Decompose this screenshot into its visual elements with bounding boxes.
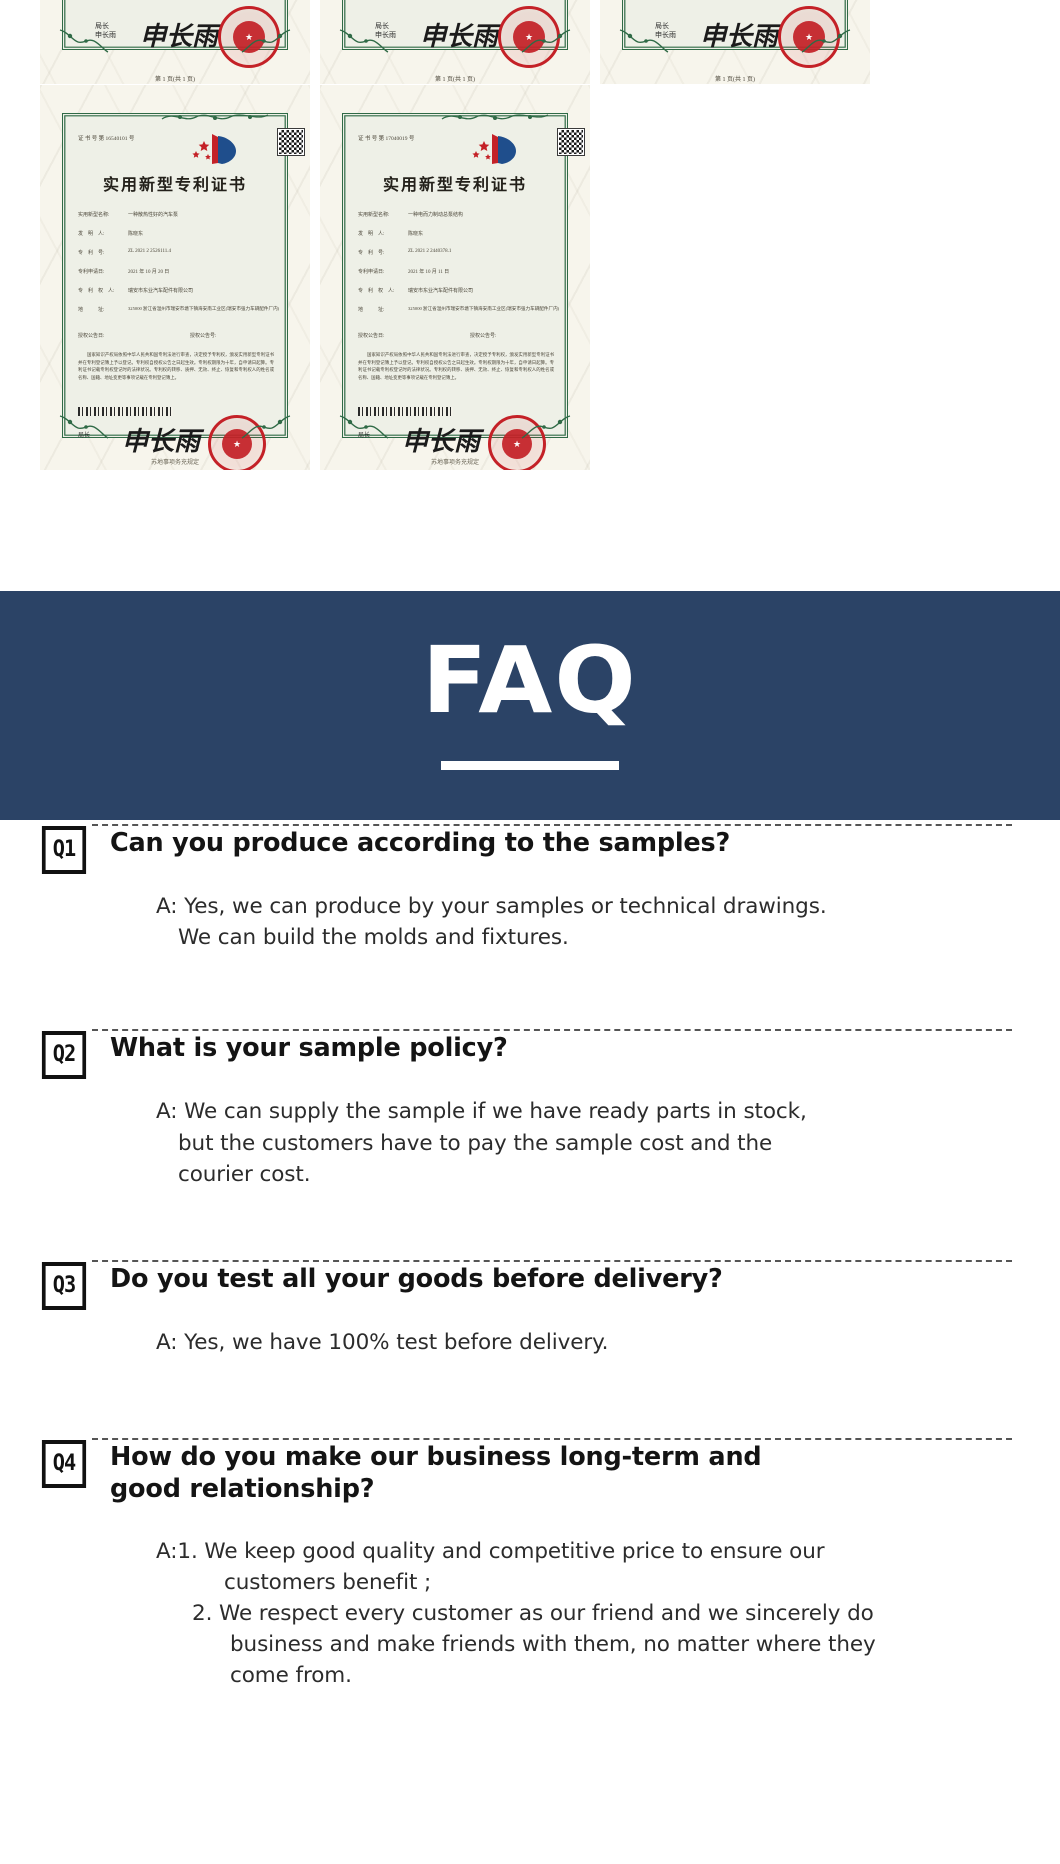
field-label: 发 明 人: — [78, 230, 104, 237]
answer-line: A: Yes, we can produce by your samples o… — [156, 891, 926, 922]
field-value: 瑞安市东业汽车配件有限公司 — [408, 287, 473, 294]
answer-text: A: Yes, we have 100% test before deliver… — [156, 1327, 926, 1358]
cnipa-logo-icon — [188, 131, 240, 165]
faq-banner: FAQ — [0, 591, 1060, 820]
field-label: 专利申请日: — [78, 268, 104, 275]
question-badge: Q1 — [42, 826, 86, 874]
answer-line: We can build the molds and fixtures. — [156, 922, 926, 953]
official-seal: ★ — [778, 6, 840, 68]
certificate-full-2[interactable]: 证 书 号 第 17040019 号 实用新型专利证书 实用新型名称: 一种电而… — [320, 85, 590, 470]
page-note: 第 1 页(共 1 页) — [600, 74, 870, 83]
dashed-divider — [92, 1029, 1012, 1031]
field-value: ZL 2021 2 2440378.1 — [408, 249, 451, 254]
official-seal: ★ — [218, 6, 280, 68]
answer-line: A: Yes, we have 100% test before deliver… — [156, 1327, 926, 1358]
director-label: 局长 — [358, 433, 370, 441]
faq-list: Q1 Can you produce according to the samp… — [0, 820, 1060, 1864]
faq-item-q2: Q2 What is your sample policy? A: We can… — [40, 1025, 1020, 1190]
certificate-thumbnail-top-2[interactable]: 局长 申长雨 申长雨 ★ 第 1 页(共 1 页) 苏地事项务充规定 — [320, 0, 590, 84]
faq-item-q4: Q4 How do you make our business long-ter… — [40, 1434, 1020, 1692]
question-badge: Q2 — [42, 1031, 86, 1079]
director-label: 局长 申长雨 — [375, 22, 396, 40]
answer-line: 2. We respect every customer as our frie… — [156, 1598, 926, 1692]
field-value: 瑞安市东业汽车配件有限公司 — [128, 287, 193, 294]
spacer — [40, 953, 1020, 1025]
faq-item-q3: Q3 Do you test all your goods before del… — [40, 1256, 1020, 1358]
certificate-title: 实用新型专利证书 — [320, 171, 590, 195]
field-label: 授权公告日: — [358, 332, 384, 339]
certificate-full-1[interactable]: 证 书 号 第 16540101 号 实用新型专利证书 实用新型名称: 一种散热… — [40, 85, 310, 470]
certificate-caption: 苏地事项务充规定 — [40, 457, 310, 466]
field-label: 专 利 号: — [78, 249, 104, 256]
faq-question-row[interactable]: Q3 Do you test all your goods before del… — [40, 1256, 1020, 1310]
field-label: 地 址: — [358, 306, 384, 313]
faq-question-row[interactable]: Q4 How do you make our business long-ter… — [40, 1434, 1020, 1506]
qr-code — [558, 129, 584, 155]
field-value: 陈晓东 — [408, 230, 423, 237]
body-note: 国家知识产权局依照中华人民共和国专利法进行审查，决定授予专利权，颁发实用新型专利… — [358, 351, 554, 382]
field-label: 发 明 人: — [358, 230, 384, 237]
faq-banner-title: FAQ — [422, 635, 638, 727]
question-badge: Q4 — [42, 1440, 86, 1488]
field-label: 专 利 号: — [358, 249, 384, 256]
answer-text: A: Yes, we can produce by your samples o… — [156, 891, 926, 953]
spacer — [40, 1358, 1020, 1434]
answer-line: A:1. We keep good quality and competitiv… — [156, 1536, 926, 1598]
field-label: 授权公告日: — [78, 332, 104, 339]
answer-text: A:1. We keep good quality and competitiv… — [156, 1536, 926, 1692]
field-value: 一种散热性好的汽车泵 — [128, 211, 178, 218]
field-label: 专 利 权 人: — [358, 287, 394, 294]
spacer — [40, 1190, 1020, 1256]
page-note: 第 1 页(共 1 页) — [40, 74, 310, 83]
field-value: 一种电而力制动总泵结构 — [408, 211, 463, 218]
director-label: 局长 申长雨 — [655, 22, 676, 40]
faq-page: 局长 申长雨 申长雨 ★ 第 1 页(共 1 页) 苏地事项务充规定 局长 申长… — [0, 0, 1060, 1864]
official-seal: ★ — [498, 6, 560, 68]
field-value: ZL 2021 2 2526111.4 — [128, 249, 171, 254]
certificate-number: 证 书 号 第 17040019 号 — [358, 134, 414, 142]
answer-line: courier cost. — [156, 1159, 926, 1190]
field-value: 陈晓东 — [128, 230, 143, 237]
director-label: 局长 申长雨 — [95, 22, 116, 40]
faq-item-q1: Q1 Can you produce according to the samp… — [40, 820, 1020, 953]
certificate-title: 实用新型专利证书 — [40, 171, 310, 195]
field-value: 325000 浙江省温州市瑞安市塘下镇海安南工业区(瑞安市强力车辆配件厂内) — [128, 306, 279, 313]
field-label: 专 利 权 人: — [78, 287, 114, 294]
answer-line: but the customers have to pay the sample… — [156, 1128, 926, 1159]
certificate-thumbnail-top-3[interactable]: 局长 申长雨 申长雨 ★ 第 1 页(共 1 页) 苏地事项务充规定 — [600, 0, 870, 84]
director-label: 局长 — [78, 433, 90, 441]
page-note: 第 1 页(共 1 页) — [320, 74, 590, 83]
question-badge: Q3 — [42, 1262, 86, 1310]
qr-code — [278, 129, 304, 155]
barcode — [358, 407, 453, 416]
field-value: 2021 年 10 月 20 日 — [128, 268, 169, 275]
director-signature: 申长雨 — [402, 421, 480, 458]
faq-banner-underline — [441, 761, 619, 770]
certificate-number: 证 书 号 第 16540101 号 — [78, 134, 134, 142]
dashed-divider — [92, 824, 1012, 826]
certificate-caption: 苏地事项务充规定 — [320, 457, 590, 466]
field-value: 授权公告号: — [190, 332, 216, 339]
director-signature: 申长雨 — [122, 421, 200, 458]
answer-text: A: We can supply the sample if we have r… — [156, 1096, 926, 1190]
body-note: 国家知识产权局依照中华人民共和国专利法进行审查，决定授予专利权，颁发实用新型专利… — [78, 351, 274, 382]
certificate-thumbnail-top-1[interactable]: 局长 申长雨 申长雨 ★ 第 1 页(共 1 页) 苏地事项务充规定 — [40, 0, 310, 84]
question-text: How do you make our business long-term a… — [110, 1434, 790, 1506]
field-value: 2021 年 10 月 11 日 — [408, 268, 449, 275]
faq-question-row[interactable]: Q2 What is your sample policy? — [40, 1025, 1020, 1079]
faq-question-row[interactable]: Q1 Can you produce according to the samp… — [40, 820, 1020, 874]
field-label: 实用新型名称: — [358, 211, 389, 218]
cnipa-logo-icon — [468, 131, 520, 165]
director-signature: 申长雨 — [700, 16, 778, 53]
answer-line: A: We can supply the sample if we have r… — [156, 1096, 926, 1127]
field-label: 实用新型名称: — [78, 211, 109, 218]
dashed-divider — [92, 1438, 1012, 1440]
field-label: 地 址: — [78, 306, 104, 313]
field-label: 专利申请日: — [358, 268, 384, 275]
patent-certificate-gallery: 局长 申长雨 申长雨 ★ 第 1 页(共 1 页) 苏地事项务充规定 局长 申长… — [0, 0, 1060, 591]
barcode — [78, 407, 173, 416]
field-value: 授权公告号: — [470, 332, 496, 339]
director-signature: 申长雨 — [420, 16, 498, 53]
director-signature: 申长雨 — [140, 16, 218, 53]
field-value: 325000 浙江省温州市瑞安市塘下镇海安南工业区(瑞安市强力车辆配件厂内) — [408, 306, 559, 313]
dashed-divider — [92, 1260, 1012, 1262]
